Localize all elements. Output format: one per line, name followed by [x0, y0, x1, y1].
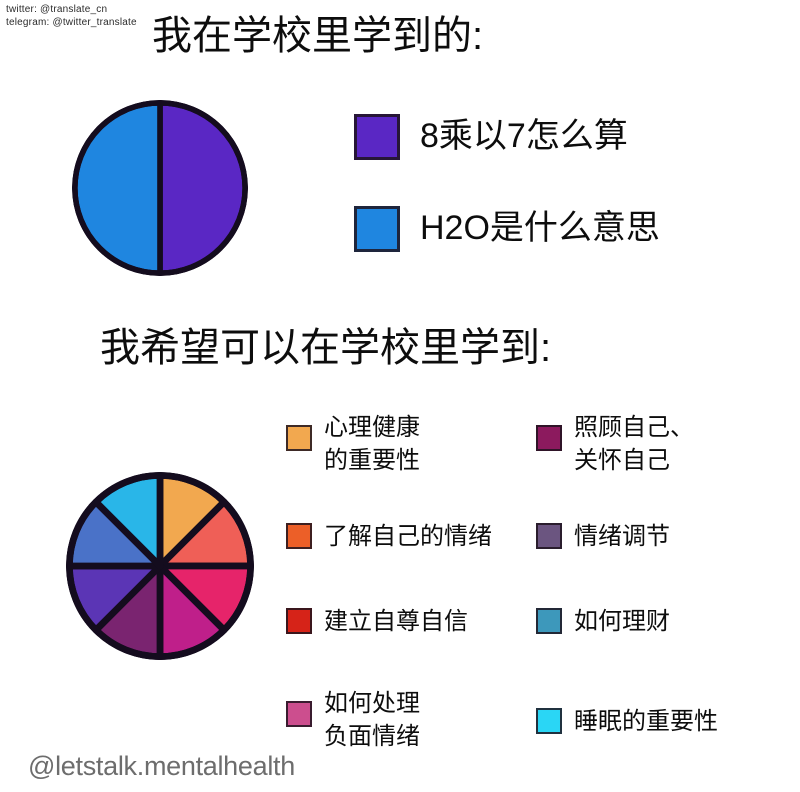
legend-label-multiplication: 8乘以7怎么算 [420, 114, 628, 158]
legend-swatch-sleep-importance [536, 708, 562, 734]
legend-label-emotion-regulation: 情绪调节 [574, 520, 670, 553]
legend-label-sleep-importance: 睡眠的重要性 [574, 705, 718, 738]
top-section-title: 我在学校里学到的: [152, 16, 483, 56]
legend-swatch-emotion-regulation [536, 523, 562, 549]
legend-label-negative-emotions: 如何处理 负面情绪 [324, 687, 420, 753]
legend-label-self-esteem: 建立自尊自信 [324, 605, 468, 638]
legend-swatch-self-care [536, 425, 562, 451]
legend-label-understand-emotions: 了解自己的情绪 [324, 520, 492, 553]
legend-item-sleep-importance: 睡眠的重要性 [536, 705, 718, 738]
legend-item-h2o: H2O是什么意思 [354, 206, 660, 252]
top-pie-chart [72, 100, 248, 276]
pie-slice [160, 103, 245, 273]
legend-label-self-care: 照顾自己、 关怀自己 [574, 411, 694, 477]
legend-label-mental-health-importance: 心理健康 的重要性 [324, 411, 420, 477]
legend-swatch-multiplication [354, 114, 400, 160]
legend-item-self-esteem: 建立自尊自信 [286, 605, 468, 638]
legend-swatch-h2o [354, 206, 400, 252]
source-watermark: twitter: @translate_cn telegram: @twitte… [6, 3, 137, 29]
legend-item-self-care: 照顾自己、 关怀自己 [536, 411, 694, 477]
watermark-telegram: telegram: @twitter_translate [6, 16, 137, 29]
bottom-section-title: 我希望可以在学校里学到: [100, 328, 551, 368]
legend-label-h2o: H2O是什么意思 [420, 206, 660, 250]
pie-slice [75, 103, 160, 273]
legend-swatch-money-management [536, 608, 562, 634]
legend-swatch-negative-emotions [286, 701, 312, 727]
legend-swatch-mental-health-importance [286, 425, 312, 451]
legend-item-multiplication: 8乘以7怎么算 [354, 114, 628, 160]
bottom-pie-chart [66, 472, 254, 660]
legend-swatch-understand-emotions [286, 523, 312, 549]
watermark-twitter: twitter: @translate_cn [6, 3, 137, 16]
legend-swatch-self-esteem [286, 608, 312, 634]
account-handle: @letstalk.mentalhealth [28, 753, 295, 780]
legend-item-negative-emotions: 如何处理 负面情绪 [286, 687, 420, 753]
top-pie-svg [72, 100, 248, 276]
legend-label-money-management: 如何理财 [574, 605, 670, 638]
top-pie-circle [72, 100, 248, 276]
bottom-pie-circle [66, 472, 254, 660]
legend-item-mental-health-importance: 心理健康 的重要性 [286, 411, 420, 477]
legend-item-understand-emotions: 了解自己的情绪 [286, 520, 492, 553]
legend-item-money-management: 如何理财 [536, 605, 670, 638]
legend-item-emotion-regulation: 情绪调节 [536, 520, 670, 553]
bottom-pie-svg [66, 472, 254, 660]
